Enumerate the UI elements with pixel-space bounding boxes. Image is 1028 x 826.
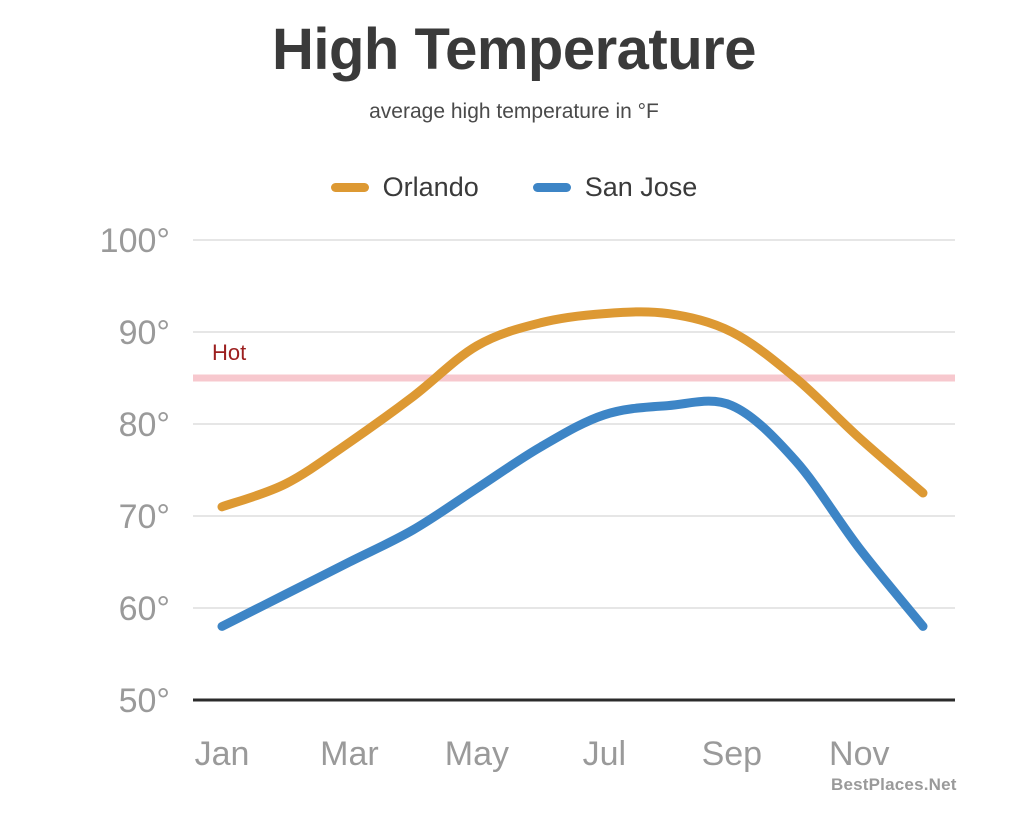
y-axis-tick-label: 90°	[119, 314, 170, 352]
x-axis-tick-label: Mar	[320, 735, 379, 773]
series-line-orlando[interactable]	[222, 312, 923, 507]
chart-container: High Temperature average high temperatur…	[0, 0, 1028, 826]
y-axis-tick-label: 70°	[119, 498, 170, 536]
threshold-label-hot: Hot	[212, 340, 246, 365]
x-axis-tick-label: May	[445, 735, 509, 773]
y-axis-tick-label: 60°	[119, 590, 170, 628]
x-axis-tick-label: Jan	[195, 735, 250, 773]
chart-plot-area: Hot100°90°80°70°60°50°JanMarMayJulSepNov	[0, 0, 1028, 826]
y-axis-tick-label: 50°	[119, 682, 170, 720]
x-axis-tick-label: Jul	[583, 735, 626, 773]
series-line-san-jose[interactable]	[222, 401, 923, 626]
y-axis-tick-label: 100°	[100, 222, 170, 260]
y-axis-tick-label: 80°	[119, 406, 170, 444]
x-axis-tick-label: Nov	[829, 735, 889, 773]
watermark: BestPlaces.Net	[831, 775, 957, 795]
x-axis-tick-label: Sep	[702, 735, 763, 773]
